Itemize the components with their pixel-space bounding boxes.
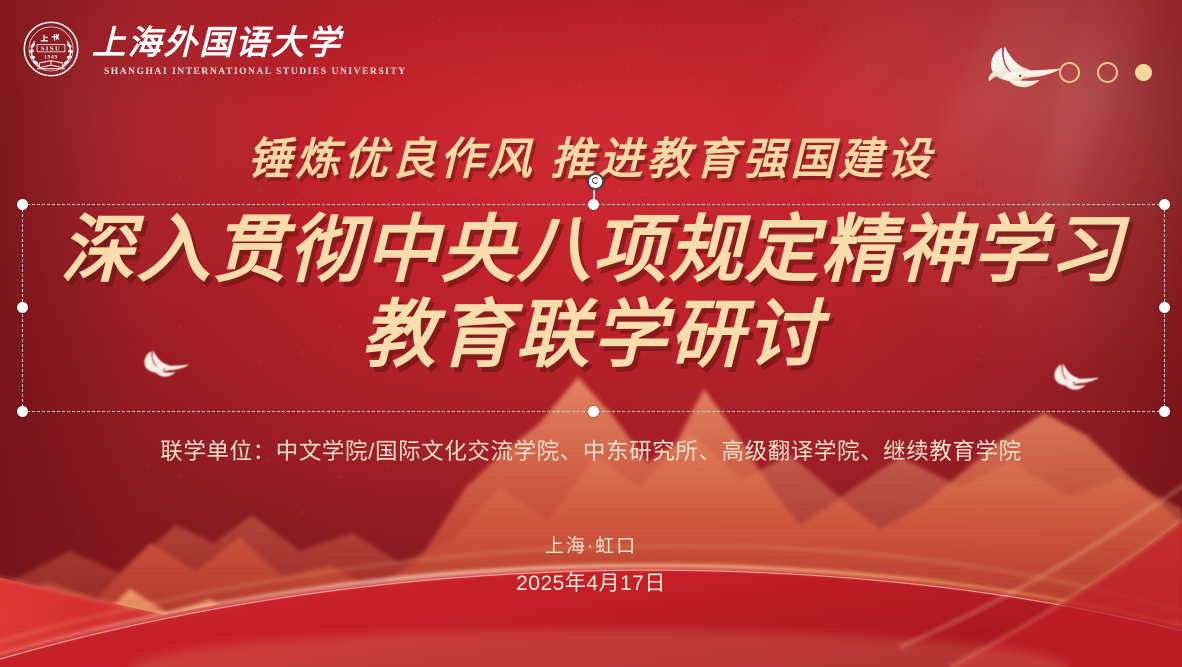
mountain-landscape-decoration xyxy=(0,337,1182,667)
slide-headline[interactable]: 深入贯彻中央八项规定精神学习 教育联学研讨 xyxy=(22,216,1163,372)
date-text[interactable]: 2025年4月17日 xyxy=(0,567,1182,597)
dot-ring-2 xyxy=(1097,62,1118,83)
slide-kicker-text[interactable]: 锤炼优良作风 推进教育强国建设 xyxy=(0,123,1182,187)
venue-text[interactable]: 上海·虹口 xyxy=(0,531,1182,558)
participating-units-text[interactable]: 联学单位：中文学院/国际文化交流学院、中东研究所、高级翻译学院、继续教育学院 xyxy=(0,434,1182,466)
logo-english-name: SHANGHAI INTERNATIONAL STUDIES UNIVERSIT… xyxy=(92,67,419,77)
logo-chinese-name: 上海外国语大学 xyxy=(92,22,419,64)
presentation-slide: SISU 1949 上海外国语大学 SHANGHAI INTERNATIONAL… xyxy=(0,0,1182,667)
dot-solid-3 xyxy=(1135,64,1152,81)
university-logo: SISU 1949 上海外国语大学 SHANGHAI INTERNATIONAL… xyxy=(22,20,419,78)
sisu-emblem-icon: SISU 1949 xyxy=(22,20,80,78)
svg-text:SISU: SISU xyxy=(41,45,61,52)
dot-ring-1 xyxy=(1059,62,1080,83)
headline-line-2: 教育联学研讨 xyxy=(22,301,1163,372)
logo-chinese-name-text: 上海外国语大学 xyxy=(92,23,345,61)
svg-text:1949: 1949 xyxy=(44,54,58,60)
decorative-dots xyxy=(1059,62,1152,83)
headline-line-1: 深入贯彻中央八项规定精神学习 xyxy=(22,216,1163,287)
